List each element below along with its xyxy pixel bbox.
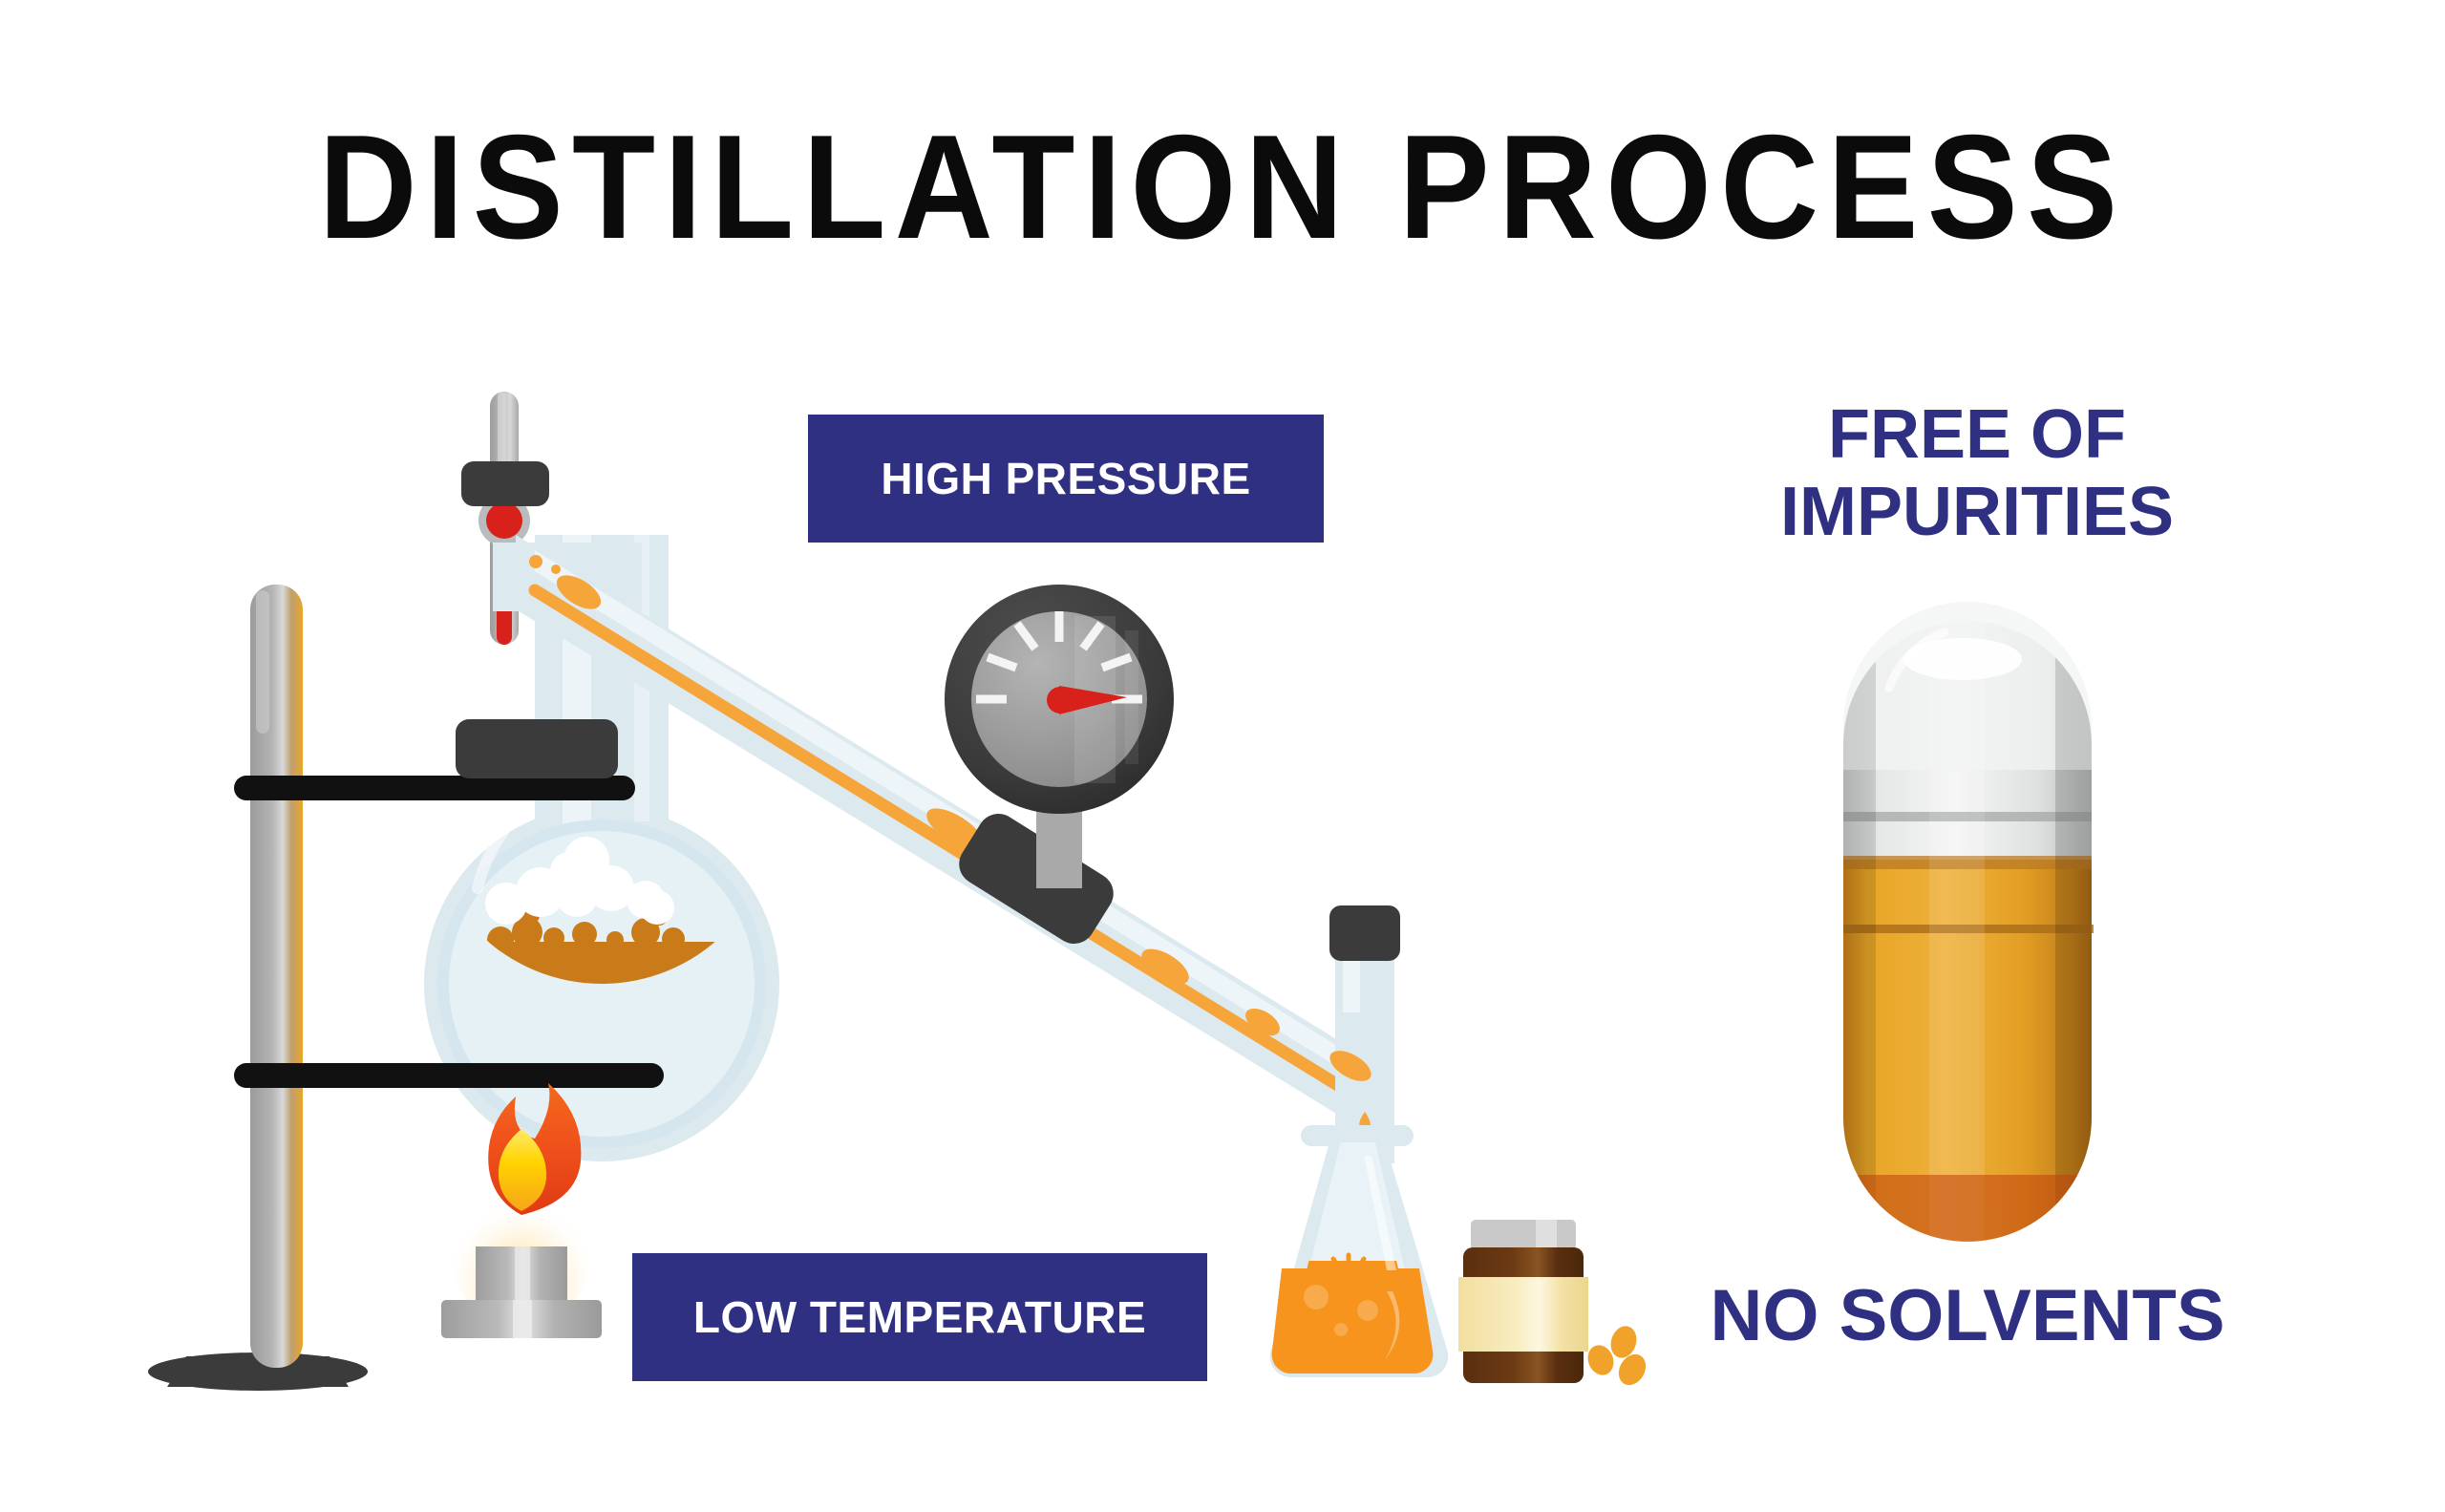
badge-low-temperature-label: LOW TEMPERATURE	[693, 1291, 1146, 1343]
badge-low-temperature[interactable]: LOW TEMPERATURE	[632, 1253, 1207, 1381]
page-title: DISTILLATION PROCESS	[97, 113, 2347, 261]
badge-high-pressure[interactable]: HIGH PRESSURE	[808, 415, 1324, 543]
neck-stopper	[456, 719, 618, 778]
label-no-solvents: NO SOLVENTS	[1624, 1280, 2311, 1352]
flask-stopper	[461, 461, 549, 506]
supplement-bottle	[1458, 1220, 1588, 1383]
upper-clamp-bar	[234, 776, 635, 800]
softgel-capsule	[1843, 602, 2094, 1280]
infographic-canvas: DISTILLATION PROCESS HIGH PRESSURE LOW T…	[0, 0, 2445, 1512]
label-free-of-impurities: FREE OF IMPURITIES	[1681, 396, 2273, 550]
ring-stand	[148, 585, 368, 1391]
badge-high-pressure-label: HIGH PRESSURE	[881, 453, 1250, 504]
lower-clamp-bar	[234, 1063, 664, 1088]
erlenmeyer-flask	[1261, 1125, 1452, 1385]
